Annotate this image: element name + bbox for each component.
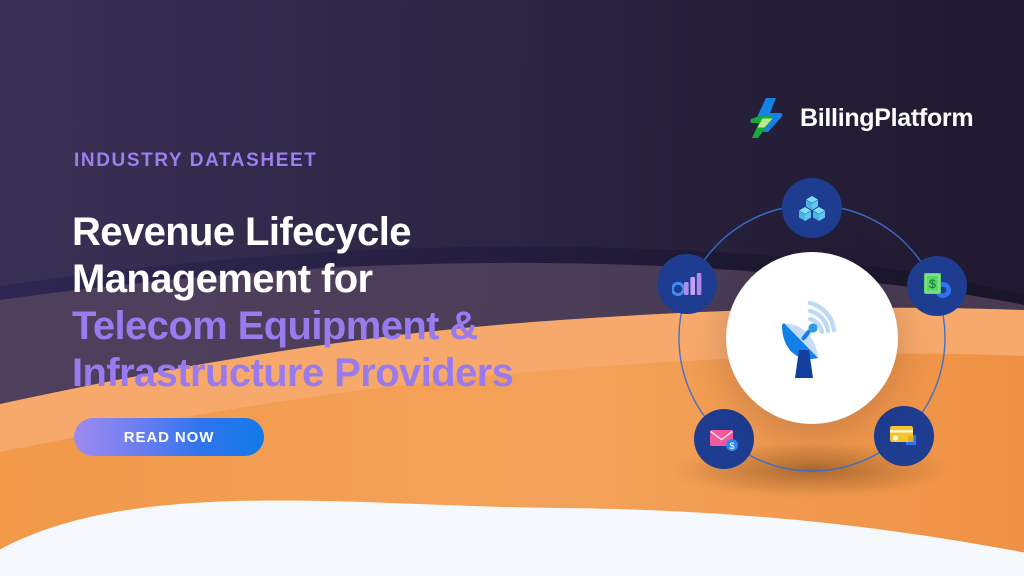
node-recurring-revenue[interactable]: $ xyxy=(907,256,967,316)
marketing-banner: BillingPlatform INDUSTRY DATASHEET Reven… xyxy=(0,0,1024,576)
svg-text:$: $ xyxy=(729,441,734,451)
satellite-dish-icon xyxy=(760,286,864,390)
bar-chart-icon xyxy=(672,270,702,298)
read-now-button[interactable]: READ NOW xyxy=(74,418,264,456)
svg-text:$: $ xyxy=(929,277,936,291)
node-payments[interactable] xyxy=(874,406,934,466)
headline-line-2: Management for xyxy=(72,256,672,303)
invoice-mail-icon: $ xyxy=(708,425,740,453)
page-title: Revenue Lifecycle Management for Telecom… xyxy=(72,209,672,398)
node-product-catalog[interactable] xyxy=(782,178,842,238)
billingplatform-mark-icon xyxy=(746,96,788,140)
hub-circle xyxy=(726,252,898,424)
headline-accent-1: Telecom Equipment & xyxy=(72,303,672,350)
headline-accent-2: Infrastructure Providers xyxy=(72,350,672,397)
eyebrow-label: INDUSTRY DATASHEET xyxy=(74,150,317,172)
node-invoicing[interactable]: $ xyxy=(694,409,754,469)
headline-line-1: Revenue Lifecycle xyxy=(72,209,672,256)
brand-logo[interactable]: BillingPlatform xyxy=(746,96,973,140)
node-usage-analytics[interactable] xyxy=(657,254,717,314)
read-now-label: READ NOW xyxy=(124,429,215,446)
logo-wordmark: BillingPlatform xyxy=(800,104,973,133)
money-cycle-icon: $ xyxy=(921,271,953,301)
credit-card-icon xyxy=(888,423,920,449)
cubes-icon xyxy=(797,193,827,223)
